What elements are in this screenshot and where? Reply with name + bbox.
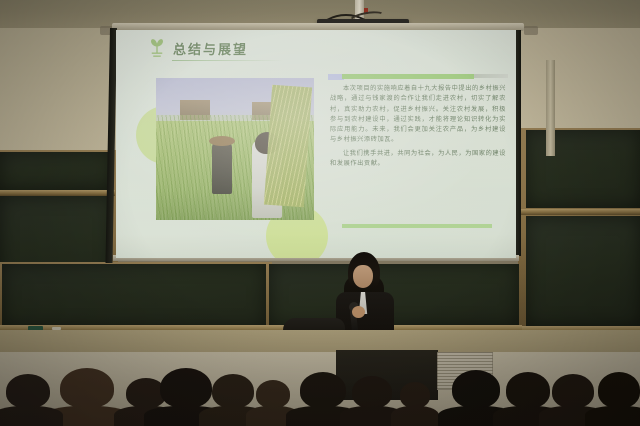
panel-bar-grey: [474, 74, 508, 78]
audience-shoulders: [585, 406, 640, 426]
audience-head: [400, 382, 430, 408]
blackboard-left-upper: [0, 152, 112, 190]
panel-bottom-bar: [342, 224, 492, 228]
audience-head: [160, 368, 212, 408]
slide-text-panel: 本次项目的实施响应着自十九大报告中提出的乡村振兴战略，通过与钱家渡的合作让我们走…: [328, 74, 508, 226]
blackboard-right-upper: [526, 130, 640, 208]
slide: 总结与展望 本次项目的实施响应着自十九大报告中提出的乡: [116, 30, 516, 258]
audience-head: [212, 374, 254, 408]
presenter-face: [353, 265, 373, 288]
blackboard-rail-right: [520, 209, 640, 215]
blackboard-right-lower: [526, 216, 640, 326]
audience-head: [452, 370, 500, 408]
audience-head: [300, 372, 346, 408]
photo-rice-bundle: [264, 85, 312, 207]
audience-head: [256, 380, 290, 408]
slide-body-text: 本次项目的实施响应着自十九大报告中提出的乡村振兴战略，通过与钱家渡的合作让我们走…: [330, 84, 506, 172]
blackboard-center: [2, 264, 266, 328]
classroom-presentation-photo: 总结与展望 本次项目的实施响应着自十九大报告中提出的乡: [0, 0, 640, 426]
slide-title: 总结与展望: [173, 39, 248, 58]
audience-head: [60, 368, 114, 408]
audience-shoulders: [391, 406, 439, 426]
slide-title-row: 总结与展望: [148, 38, 248, 58]
wall-anchor-right: [524, 26, 538, 35]
audience-head: [352, 376, 392, 408]
slide-paragraph-1: 本次项目的实施响应着自十九大报告中提出的乡村振兴战略，通过与钱家渡的合作让我们走…: [330, 84, 506, 146]
slide-paragraph-2: 让我们携手共进，共同为社会，为人民，为国家的建设和发展作出贡献。: [330, 149, 506, 170]
audience-head: [6, 374, 50, 408]
audience-shoulders: [0, 406, 63, 426]
slide-title-underline: [172, 60, 284, 61]
wall-pipe: [546, 60, 555, 156]
sprout-heart-icon: [148, 38, 166, 58]
panel-accent-bar: [342, 74, 474, 79]
audience-head: [506, 372, 550, 408]
photo-farmer: [212, 142, 232, 194]
presenter-hand: [352, 306, 365, 318]
projection-screen: 总结与展望 本次项目的实施响应着自十九大报告中提出的乡: [116, 30, 516, 258]
slide-photo-rice-harvest: [156, 78, 314, 220]
audience-head: [552, 374, 594, 408]
photo-farmer-hat: [209, 136, 235, 146]
audience-head: [598, 372, 640, 408]
